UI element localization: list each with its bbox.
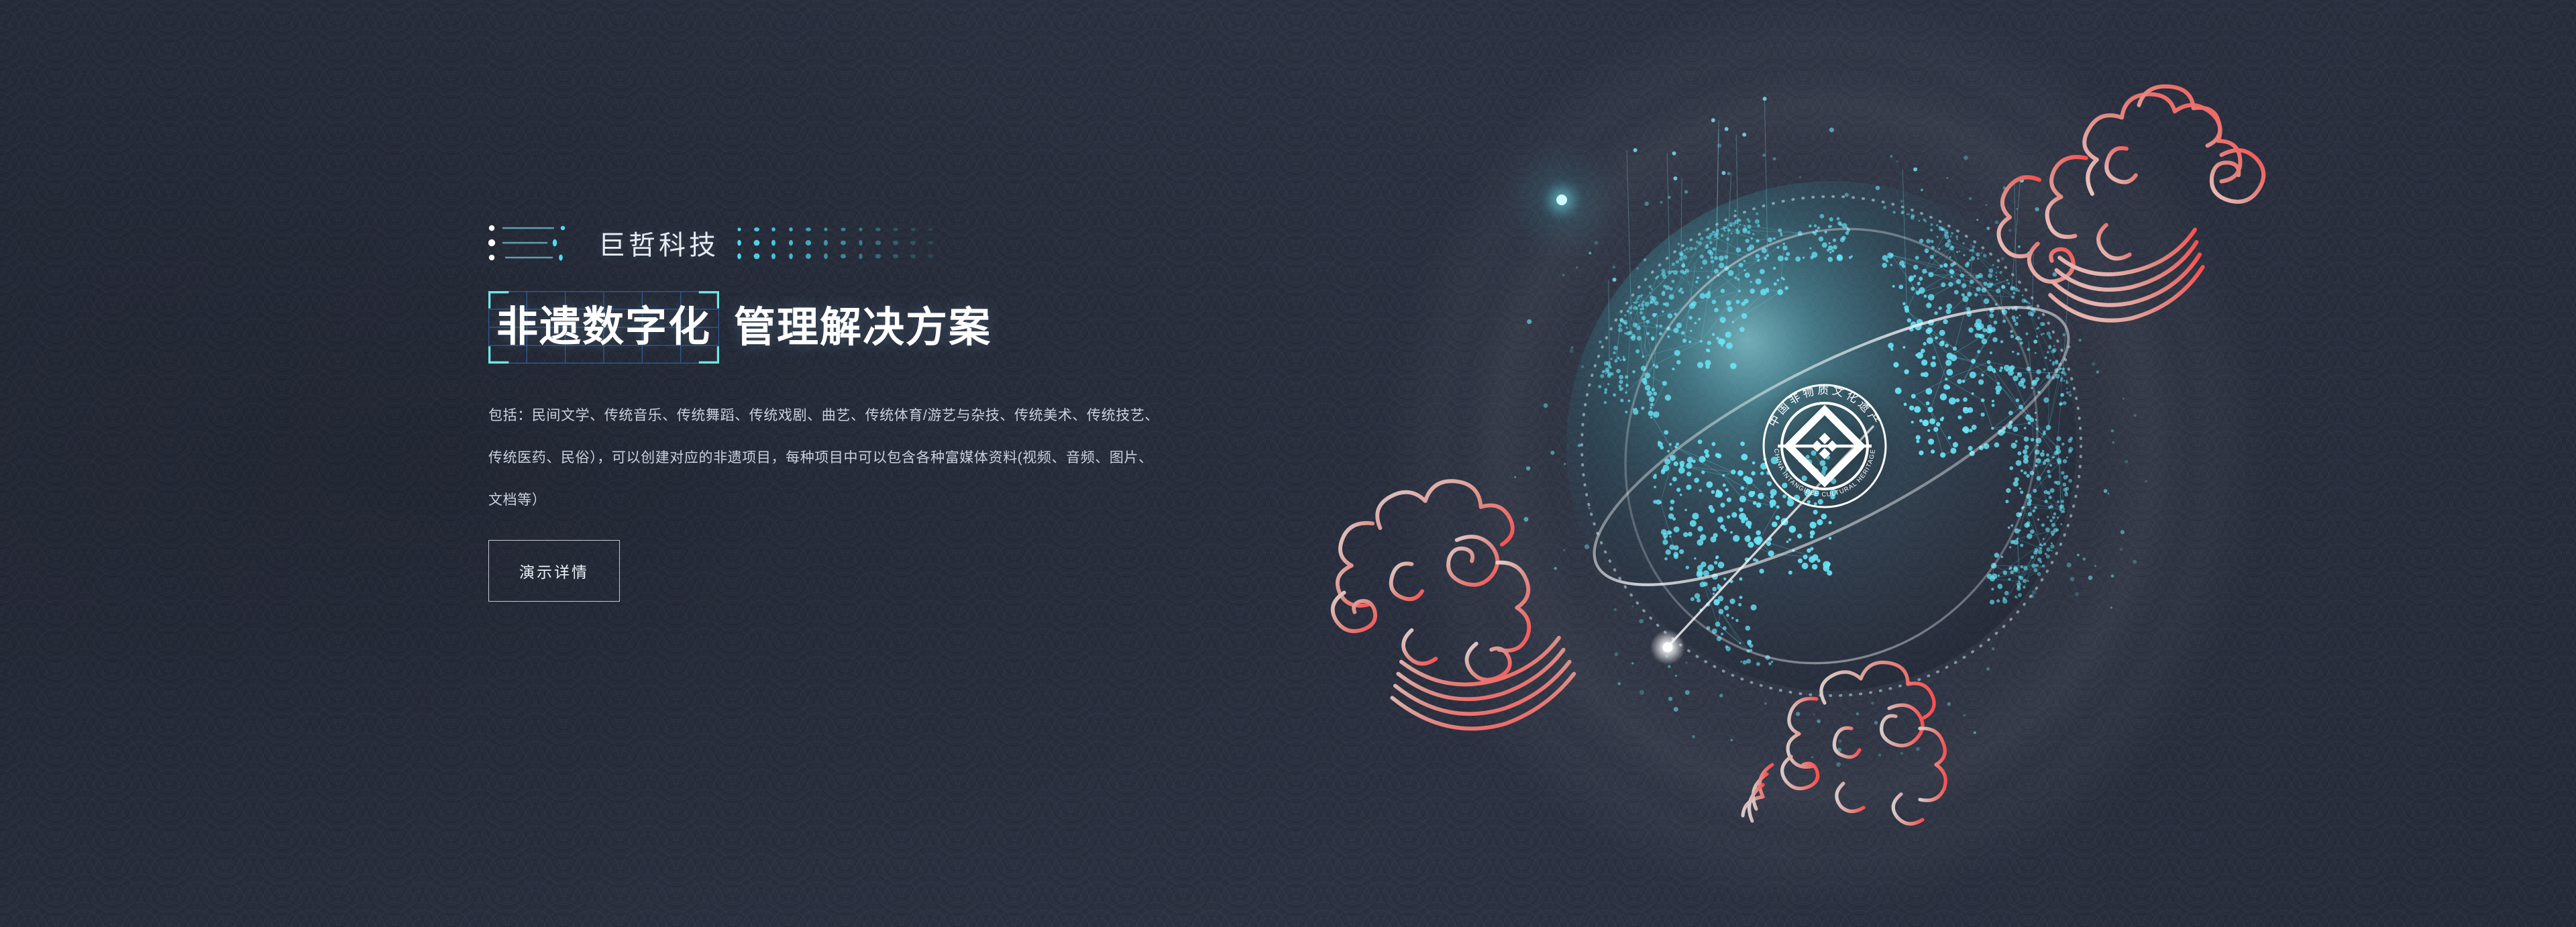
- three-line-marker-icon: [488, 222, 589, 264]
- description-paragraph: 包括：民间文学、传统音乐、传统舞蹈、传统戏剧、曲艺、传统体育/游艺与杂技、传统美…: [488, 394, 1166, 521]
- china-intangible-cultural-heritage-emblem: 中国非物质文化遗产 CHINA INTANGIBLE CULTURAL HERI…: [1756, 378, 1893, 514]
- brand-name: 巨哲科技: [598, 223, 719, 262]
- globe-scene: [1295, 0, 2576, 927]
- headline-highlighted-text: 非遗数字化: [496, 307, 711, 348]
- dot-grid-fade-decoration: [734, 223, 955, 262]
- headline-highlight-group: 非遗数字化: [488, 291, 719, 364]
- brand-row: 巨哲科技: [488, 221, 1226, 264]
- headline-rest-text: 管理解决方案: [734, 307, 991, 364]
- hero-copy-block: 巨哲科技: [488, 221, 1226, 602]
- page-title: 非遗数字化 管理解决方案: [488, 290, 1226, 364]
- glow-highlight-dot: [1556, 195, 1567, 205]
- hero-banner: 中国非物质文化遗产 CHINA INTANGIBLE CULTURAL HERI…: [0, 0, 2576, 927]
- demo-details-button[interactable]: 演示详情: [488, 540, 620, 602]
